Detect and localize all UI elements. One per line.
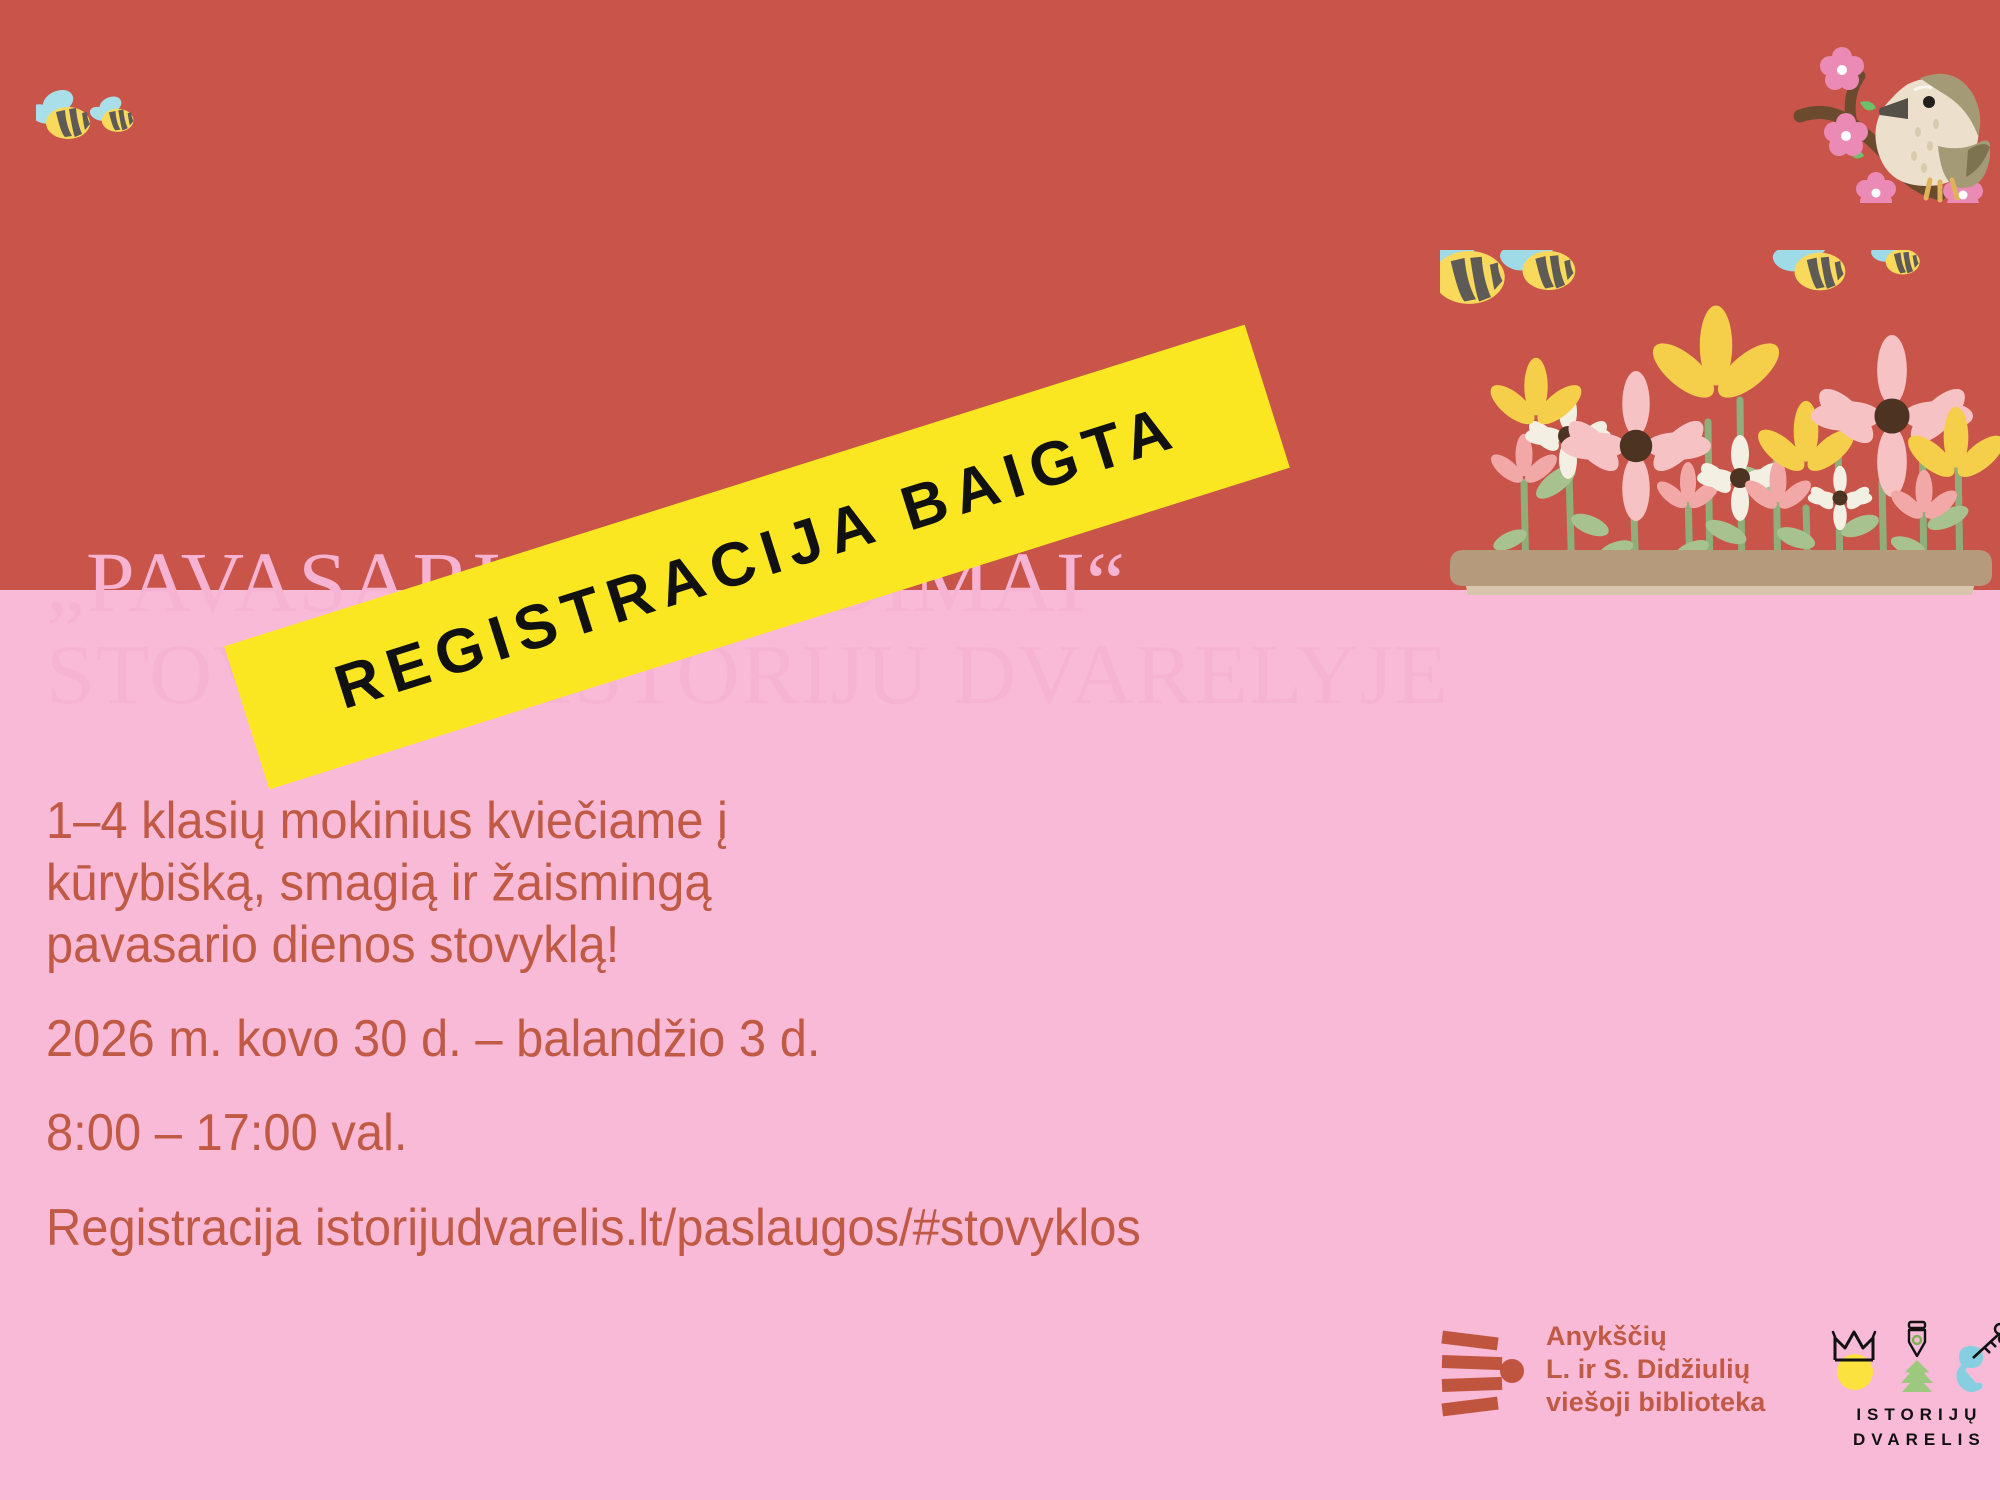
pen-tree-icon (1891, 1320, 1943, 1394)
library-name-line-3: viešoji biblioteka (1546, 1386, 1765, 1419)
footer-logos: Anykščių L. ir S. Didžiulių viešoji bibl… (1440, 1320, 2000, 1452)
poster-canvas: „PAVASARIO ATRADIMAI“ STOVYKLA ISTORIJU … (0, 0, 2000, 1500)
registration-url-line[interactable]: Registracija istorijudvarelis.lt/paslaug… (46, 1198, 1080, 1258)
bee-icon (36, 84, 146, 159)
time-line: 8:00 – 17:00 val. (46, 1102, 1080, 1164)
library-name-line-2: L. ir S. Didžiulių (1546, 1353, 1765, 1386)
dvarelis-logo: ISTORIJŲ DVARELIS (1827, 1320, 2000, 1452)
lead-line-3: pavasario dienos stovyklą! (46, 914, 1080, 976)
dvarelis-word-2: DVARELIS (1853, 1427, 1986, 1452)
library-logo: Anykščių L. ir S. Didžiulių viešoji bibl… (1440, 1320, 1765, 1419)
bird-on-blossom-branch-icon (1790, 28, 1990, 208)
library-name: Anykščių L. ir S. Didžiulių viešoji bibl… (1546, 1320, 1765, 1419)
dvarelis-word-1: ISTORIJŲ (1853, 1402, 1986, 1427)
date-line: 2026 m. kovo 30 d. – balandžio 3 d. (46, 1008, 1080, 1070)
dvarelis-icons (1827, 1320, 2000, 1394)
key-icon (1953, 1320, 2000, 1394)
poster-body: 1–4 klasių mokinius kviečiame į kūrybišk… (46, 790, 1146, 1258)
dvarelis-wordmark: ISTORIJŲ DVARELIS (1853, 1402, 1986, 1452)
flower-planter-icon (1440, 250, 2000, 600)
lead-line-1: 1–4 klasių mokinius kviečiame į (46, 790, 1080, 852)
library-mark-icon (1440, 1322, 1524, 1418)
lead-line-2: kūrybišką, smagią ir žaismingą (46, 852, 1080, 914)
crown-icon (1827, 1320, 1881, 1394)
library-name-line-1: Anykščių (1546, 1320, 1765, 1353)
